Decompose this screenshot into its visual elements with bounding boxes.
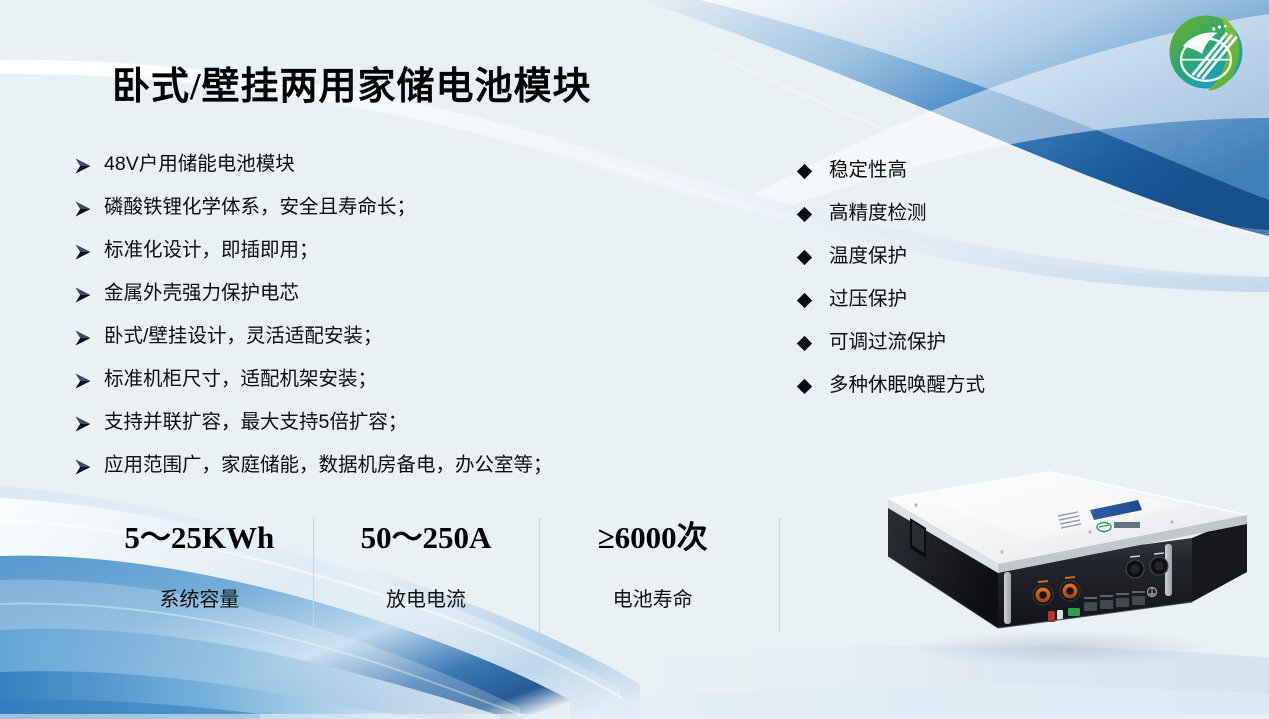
company-logo	[1158, 4, 1254, 100]
spec-label: 放电电流	[313, 587, 540, 613]
arrow-bullet-icon	[72, 284, 94, 306]
list-item-label: 卧式/壁挂设计，灵活适配安装；	[104, 324, 382, 348]
feature-list-left: 48V户用储能电池模块 磷酸铁锂化学体系，安全且寿命长； 标准化设计，即插即用；	[72, 152, 712, 496]
list-item-label: 金属外壳强力保护电芯	[104, 281, 299, 305]
list-item-label: 可调过流保护	[829, 330, 946, 354]
diamond-bullet-icon	[796, 335, 813, 352]
list-item-label: 48V户用储能电池模块	[104, 152, 295, 176]
diamond-bullet-icon	[796, 249, 813, 266]
list-item: 48V户用储能电池模块	[72, 152, 712, 195]
spec-label: 电池寿命	[539, 587, 766, 613]
arrow-bullet-icon	[72, 413, 94, 435]
diamond-bullet-icon	[796, 378, 813, 395]
list-item: 标准化设计，即插即用；	[72, 238, 712, 281]
list-item-label: 高精度检测	[829, 201, 927, 225]
list-item-label: 过压保护	[829, 287, 907, 311]
list-item-label: 标准机柜尺寸，适配机架安装；	[104, 367, 377, 391]
spec-label: 系统容量	[86, 587, 313, 613]
arrow-bullet-icon	[72, 456, 94, 478]
spec-value: 50～250A	[313, 518, 540, 558]
arrow-bullet-icon	[72, 327, 94, 349]
list-item-label: 标准化设计，即插即用；	[104, 238, 319, 262]
list-item: 金属外壳强力保护电芯	[72, 281, 712, 324]
spec-value: 5～25KWh	[86, 518, 313, 558]
list-item: 支持并联扩容，最大支持5倍扩容；	[72, 410, 712, 453]
list-item: 磷酸铁锂化学体系，安全且寿命长；	[72, 195, 712, 238]
spec-divider	[779, 518, 780, 633]
list-item-label: 温度保护	[829, 244, 907, 268]
spec-value: ≥6000次	[539, 518, 766, 558]
list-item-label: 磷酸铁锂化学体系，安全且寿命长；	[104, 195, 416, 219]
arrow-bullet-icon	[72, 370, 94, 392]
list-item-label: 应用范围广，家庭储能，数据机房备电，办公室等；	[104, 453, 553, 477]
page-title: 卧式/壁挂两用家储电池模块	[112, 55, 592, 110]
list-item-label: 多种休眠唤醒方式	[829, 373, 985, 397]
list-item: 过压保护	[796, 287, 1116, 330]
spec-item-current: 50～250A 放电电流	[313, 518, 540, 633]
spec-item-capacity: 5～25KWh 系统容量	[86, 518, 313, 633]
list-item: 温度保护	[796, 244, 1116, 287]
list-item: 应用范围广，家庭储能，数据机房备电，办公室等；	[72, 453, 712, 496]
feature-list-right: 稳定性高 高精度检测 温度保护 过压保护 可调过流保护	[796, 158, 1116, 416]
list-item-label: 支持并联扩容，最大支持5倍扩容；	[104, 410, 407, 434]
list-item-label: 稳定性高	[829, 158, 907, 182]
list-item: 标准机柜尺寸，适配机架安装；	[72, 367, 712, 410]
spec-item-cycle-life: ≥6000次 电池寿命	[539, 518, 766, 633]
spec-divider	[539, 518, 540, 633]
arrow-bullet-icon	[72, 198, 94, 220]
diamond-bullet-icon	[796, 206, 813, 223]
spec-divider	[313, 518, 314, 633]
slide-canvas: 卧式/壁挂两用家储电池模块 48V户用储能电池模块 磷酸铁锂化学体系，安全且寿命…	[0, 0, 1269, 719]
list-item: 稳定性高	[796, 158, 1116, 201]
spec-summary-row: 5～25KWh 系统容量 50～250A 放电电流 ≥6000次 电池寿命	[86, 518, 766, 633]
list-item: 高精度检测	[796, 201, 1116, 244]
diamond-bullet-icon	[796, 292, 813, 309]
arrow-bullet-icon	[72, 155, 94, 177]
diamond-bullet-icon	[796, 163, 813, 180]
list-item: 可调过流保护	[796, 330, 1116, 373]
arrow-bullet-icon	[72, 241, 94, 263]
battery-module-photo	[852, 452, 1256, 674]
list-item: 多种休眠唤醒方式	[796, 373, 1116, 416]
list-item: 卧式/壁挂设计，灵活适配安装；	[72, 324, 712, 367]
